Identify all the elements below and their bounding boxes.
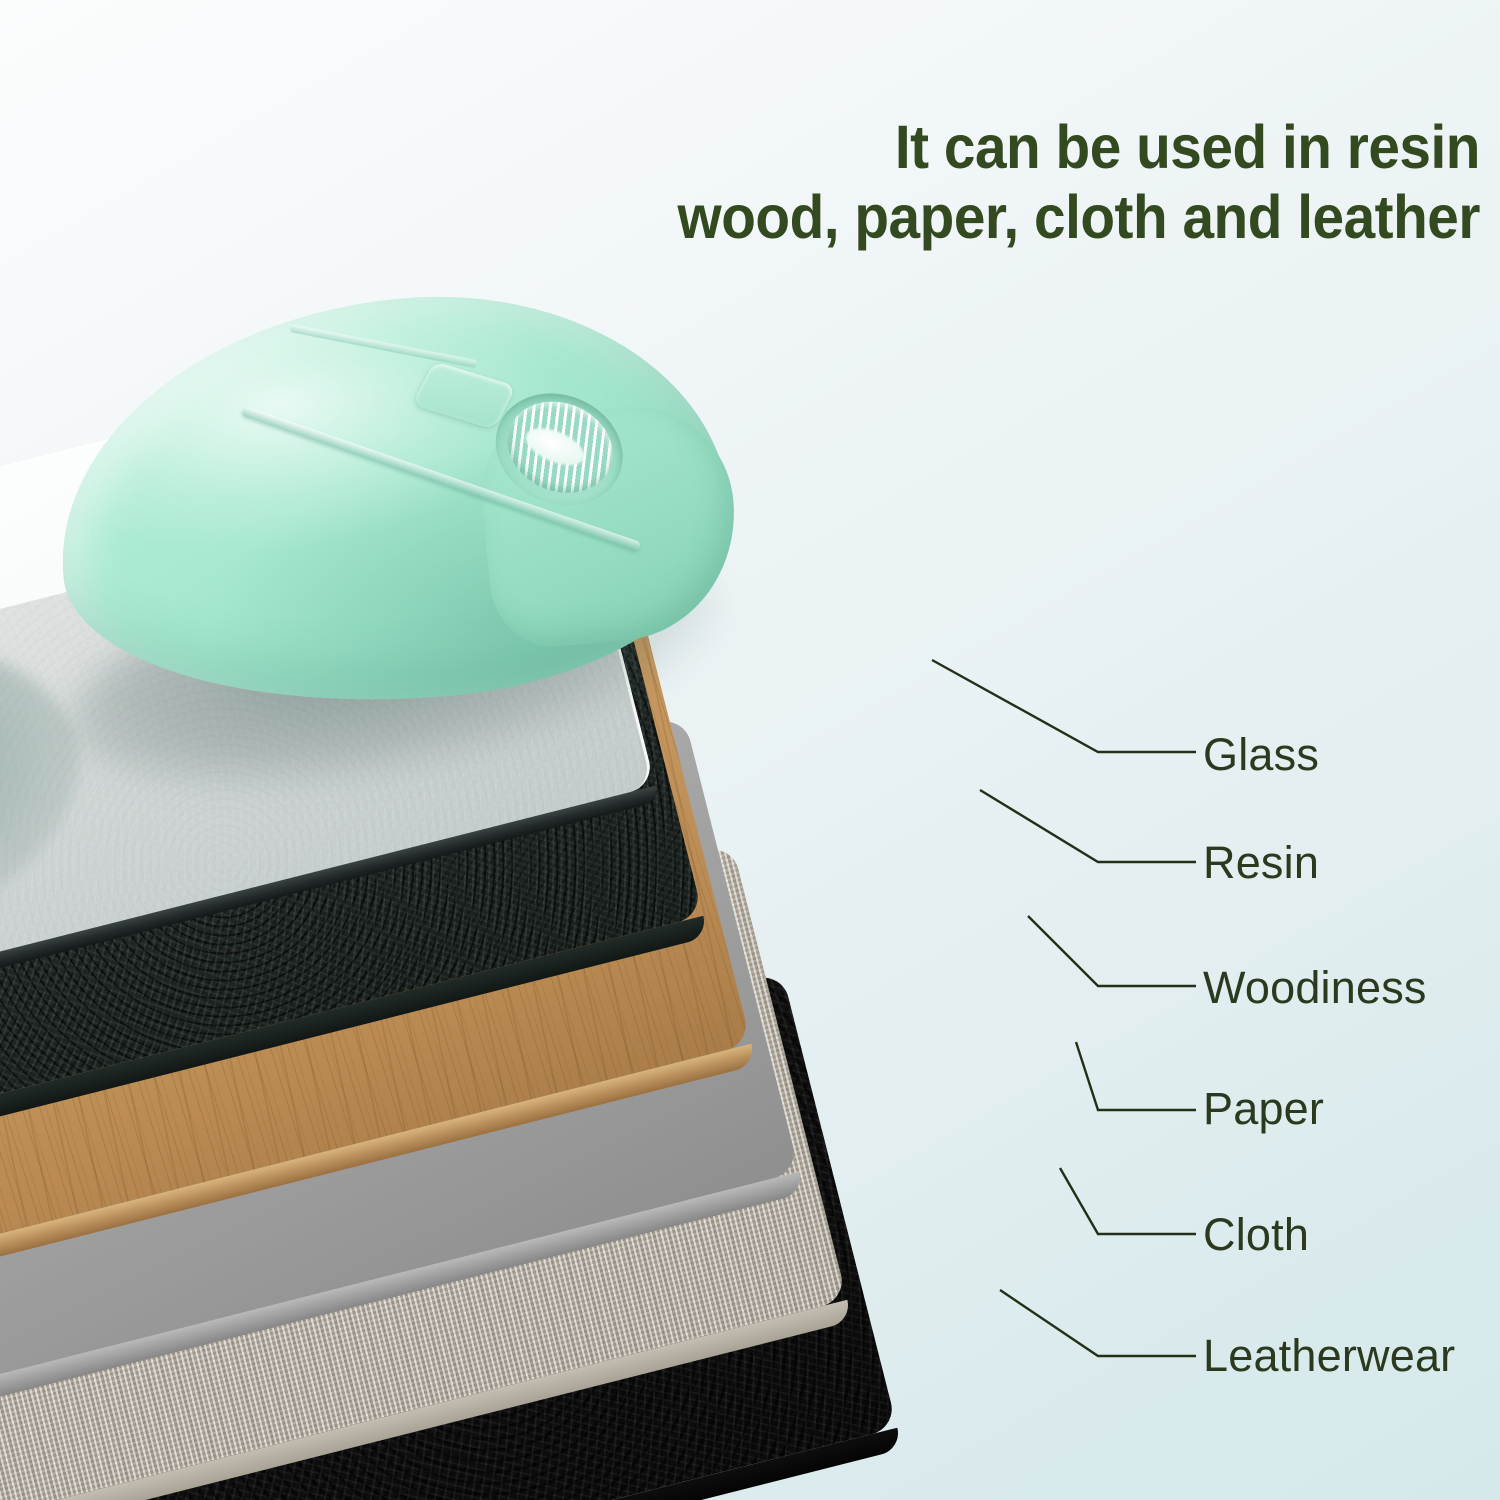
headline-line-1: It can be used in resin — [541, 112, 1480, 182]
headline: It can be used in resin wood, paper, clo… — [541, 112, 1480, 252]
callout-label-cloth: Cloth — [1203, 1212, 1309, 1257]
wireless-mouse — [42, 272, 744, 729]
callout-label-resin: Resin — [1203, 840, 1319, 885]
headline-line-2: wood, paper, cloth and leather — [541, 182, 1480, 252]
callout-label-woodiness: Woodiness — [1203, 965, 1427, 1010]
callout-label-leatherwear: Leatherwear — [1203, 1333, 1455, 1378]
callout-label-paper: Paper — [1203, 1086, 1324, 1131]
product-feature-image: It can be used in resin wood, paper, clo… — [0, 0, 1500, 1500]
callout-label-glass: Glass — [1203, 732, 1319, 777]
